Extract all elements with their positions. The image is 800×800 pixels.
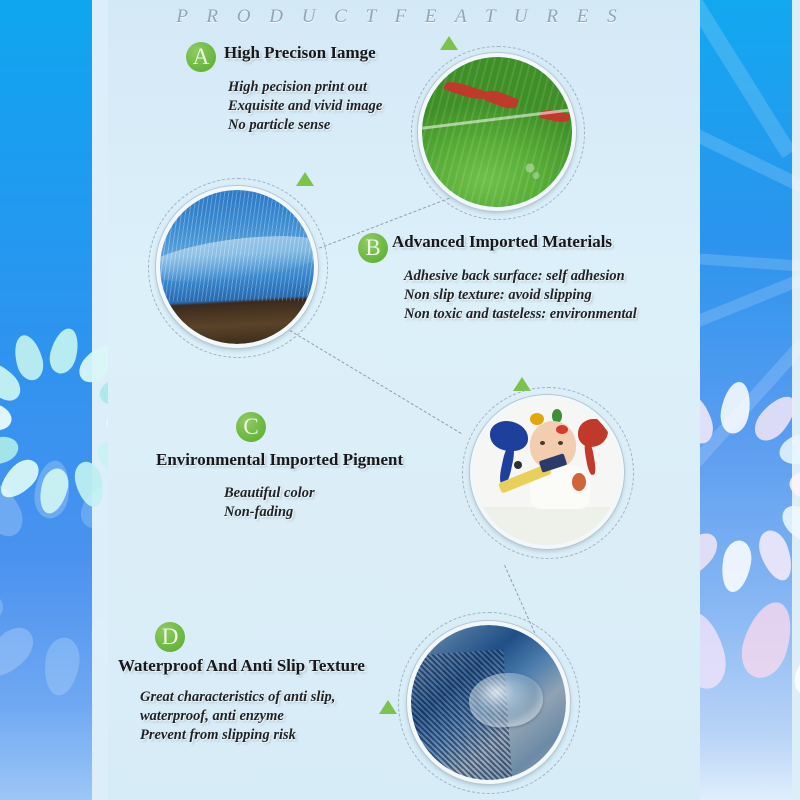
feature-heading-c: Environmental Imported Pigment xyxy=(156,450,403,470)
feature-badge-a: A xyxy=(186,42,216,72)
photo-printed-pool-mat xyxy=(418,53,576,211)
left-decorative-border xyxy=(0,0,108,800)
feature-body-c: Beautiful color Non-fading xyxy=(224,484,315,522)
feature-body-d: Great characteristics of anti slip, wate… xyxy=(140,688,335,745)
photo-baby-painting xyxy=(470,395,624,549)
feature-heading-d: Waterproof And Anti Slip Texture xyxy=(118,656,365,676)
feature-body-b: Adhesive back surface: self adhesion Non… xyxy=(404,267,637,324)
feature-badge-d: D xyxy=(155,622,185,652)
arrow-up-b-icon xyxy=(296,172,314,186)
photo-water-droplet xyxy=(407,621,570,784)
arrow-up-a-icon xyxy=(440,36,458,50)
arrow-up-d-icon xyxy=(379,700,397,714)
feature-badge-c: C xyxy=(236,412,266,442)
feature-heading-b: Advanced Imported Materials xyxy=(392,232,612,252)
product-features-poster: P R O D U C T F E A T U R E S A High Pre… xyxy=(0,0,800,800)
feature-badge-b: B xyxy=(358,233,388,263)
feature-heading-a: High Precison Iamge xyxy=(224,43,376,63)
right-decorative-border xyxy=(700,0,800,800)
page-title: P R O D U C T F E A T U R E S xyxy=(0,6,800,28)
photo-blue-fabric-texture xyxy=(156,186,318,348)
feature-body-a: High pecision print out Exquisite and vi… xyxy=(228,78,382,135)
